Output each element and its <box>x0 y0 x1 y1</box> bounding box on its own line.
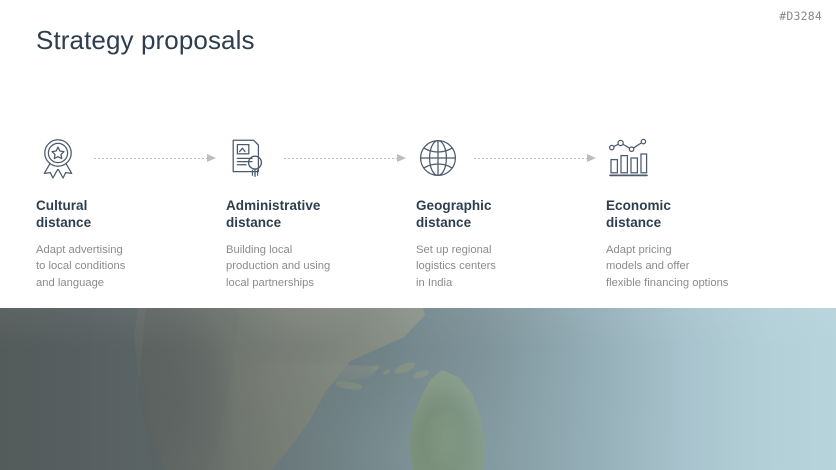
strategy-column-administrative: Administrative distance Building local p… <box>226 132 416 291</box>
globe-icon <box>416 136 460 180</box>
body-line-2: models and offer <box>606 258 796 274</box>
award-rosette-icon <box>36 136 80 180</box>
icon-row <box>416 132 606 184</box>
strategy-columns: Cultural distance Adapt advertising to l… <box>36 132 800 291</box>
body-line-1: Set up regional <box>416 242 606 258</box>
connector-arrowhead <box>397 154 406 162</box>
connector-arrow-3 <box>474 153 596 164</box>
column-body: Set up regional logistics centers in Ind… <box>416 242 606 291</box>
column-body: Building local production and using loca… <box>226 242 416 291</box>
satellite-map-image <box>0 308 836 470</box>
strategy-column-economic: Economic distance Adapt pricing models a… <box>606 132 796 291</box>
connector-arrow-1 <box>94 153 216 164</box>
slide-canvas: #D3284 Strategy proposals <box>0 0 836 470</box>
body-line-1: Building local <box>226 242 416 258</box>
strategy-column-cultural: Cultural distance Adapt advertising to l… <box>36 132 226 291</box>
connector-arrow-2 <box>284 153 406 164</box>
icon-row <box>226 132 416 184</box>
heading-line-1: Economic <box>606 198 671 213</box>
body-line-3: in India <box>416 275 606 291</box>
column-heading: Economic distance <box>606 197 796 231</box>
body-line-2: production and using <box>226 258 416 274</box>
heading-line-1: Administrative <box>226 198 320 213</box>
column-heading: Cultural distance <box>36 197 226 231</box>
bar-chart-line-icon <box>606 136 650 180</box>
column-heading: Administrative distance <box>226 197 416 231</box>
heading-line-2: distance <box>226 215 281 230</box>
document-magnifier-icon <box>226 136 270 180</box>
column-body: Adapt advertising to local conditions an… <box>36 242 226 291</box>
page-title: Strategy proposals <box>36 25 255 56</box>
body-line-2: to local conditions <box>36 258 226 274</box>
body-line-3: and language <box>36 275 226 291</box>
body-line-3: local partnerships <box>226 275 416 291</box>
connector-dots <box>94 158 207 159</box>
connector-dots <box>284 158 397 159</box>
heading-line-2: distance <box>36 215 91 230</box>
column-heading: Geographic distance <box>416 197 606 231</box>
heading-line-1: Geographic <box>416 198 492 213</box>
body-line-2: logistics centers <box>416 258 606 274</box>
body-line-1: Adapt advertising <box>36 242 226 258</box>
strategy-column-geographic: Geographic distance Set up regional logi… <box>416 132 606 291</box>
icon-row <box>36 132 226 184</box>
column-body: Adapt pricing models and offer flexible … <box>606 242 796 291</box>
connector-dots <box>474 158 587 159</box>
map-vignette <box>0 308 836 470</box>
heading-line-1: Cultural <box>36 198 87 213</box>
connector-arrowhead <box>207 154 216 162</box>
body-line-3: flexible financing options <box>606 275 796 291</box>
icon-row <box>606 132 796 184</box>
heading-line-2: distance <box>606 215 661 230</box>
slide-code: #D3284 <box>779 9 822 23</box>
body-line-1: Adapt pricing <box>606 242 796 258</box>
connector-arrowhead <box>587 154 596 162</box>
heading-line-2: distance <box>416 215 471 230</box>
